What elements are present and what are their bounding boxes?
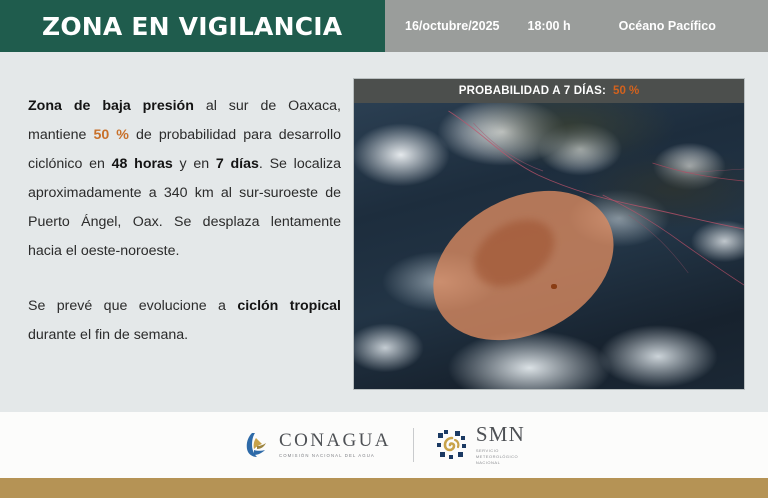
header-meta-band: 16/octubre/2025 18:00 h Océano Pacífico	[385, 0, 768, 52]
advisory-paragraph-2: Se prevé que evolucione a ciclón tropica…	[28, 292, 341, 350]
smn-subtitle-line-3: NACIONAL	[476, 460, 525, 466]
conagua-name: CONAGUA	[279, 431, 391, 450]
header-title-band: ZONA EN VIGILANCIA	[0, 0, 385, 52]
conagua-logo: CONAGUA COMISIÓN NACIONAL DEL AGUA	[243, 430, 391, 460]
logo-divider	[413, 428, 414, 462]
header-bar: ZONA EN VIGILANCIA 16/octubre/2025 18:00…	[0, 0, 768, 52]
bottom-accent-bar	[0, 478, 768, 498]
page-title: ZONA EN VIGILANCIA	[42, 12, 342, 41]
satellite-imagery	[354, 103, 744, 390]
probability-caption-label: PROBABILIDAD A 7 DÍAS:	[459, 85, 606, 97]
smn-spiral-glyph-icon	[436, 429, 468, 461]
footer-logos: CONAGUA COMISIÓN NACIONAL DEL AGUA	[0, 412, 768, 478]
conagua-eagle-water-icon	[243, 430, 271, 460]
window-7d-term: 7 días	[216, 156, 259, 172]
smn-wordmark: SMN SERVICIO METEOROLÓGICO NACIONAL	[476, 424, 525, 465]
advisory-paragraph-1: Zona de baja presión al sur de Oaxaca, m…	[28, 92, 341, 266]
smn-logo: SMN SERVICIO METEOROLÓGICO NACIONAL	[436, 424, 525, 465]
satellite-caption-bar: PROBABILIDAD A 7 DÍAS: 50 %	[354, 79, 744, 103]
advisory-time: 18:00 h	[528, 19, 571, 33]
window-48h-term: 48 horas	[112, 156, 173, 172]
probability-caption-value: 50 %	[613, 85, 639, 97]
conagua-subtitle: COMISIÓN NACIONAL DEL AGUA	[279, 453, 391, 458]
satellite-image-panel: PROBABILIDAD A 7 DÍAS: 50 %	[353, 78, 745, 390]
smn-subtitle: SERVICIO METEOROLÓGICO NACIONAL	[476, 448, 525, 465]
smn-name: SMN	[476, 424, 525, 445]
paragraph1-seg6: y en	[173, 156, 216, 172]
advisory-basin: Océano Pacífico	[619, 19, 716, 33]
advisory-page: ZONA EN VIGILANCIA 16/octubre/2025 18:00…	[0, 0, 768, 498]
advisory-text-column: Zona de baja presión al sur de Oaxaca, m…	[28, 92, 341, 350]
tropical-cyclone-term: ciclón tropical	[237, 298, 341, 314]
paragraph2-seg1: Se prevé que evolucione a	[28, 298, 237, 314]
logo-group: CONAGUA COMISIÓN NACIONAL DEL AGUA	[243, 424, 525, 465]
probability-value-inline: 50 %	[93, 127, 128, 143]
paragraph2-seg3: durante el fin de semana.	[28, 327, 188, 343]
conagua-wordmark: CONAGUA COMISIÓN NACIONAL DEL AGUA	[279, 431, 391, 458]
body-area: Zona de baja presión al sur de Oaxaca, m…	[0, 52, 768, 412]
low-pressure-term: Zona de baja presión	[28, 98, 194, 114]
advisory-date: 16/octubre/2025	[405, 19, 500, 33]
